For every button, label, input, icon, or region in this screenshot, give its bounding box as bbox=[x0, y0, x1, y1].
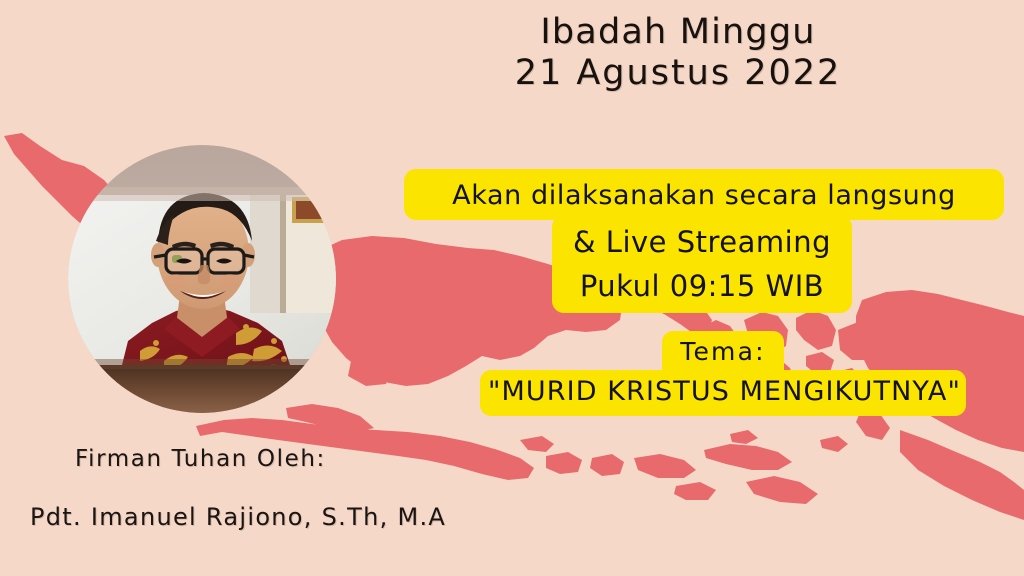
announcement-block: Akan dilaksanakan secara langsung & Live… bbox=[404, 169, 1004, 220]
speaker-name: Pdt. Imanuel Rajiono, S.Th, M.A bbox=[30, 503, 446, 531]
portrait-photo bbox=[68, 145, 336, 413]
speaker-label: Firman Tuhan Oleh: bbox=[75, 446, 326, 472]
announcement-line-1: Akan dilaksanakan secara langsung bbox=[404, 169, 1004, 220]
speaker-portrait-avatar bbox=[68, 145, 336, 413]
theme-label-row: Tema: bbox=[480, 331, 966, 370]
announcement-line-3: Pukul 09:15 WIB bbox=[552, 264, 852, 313]
headline-line-1: Ibadah Minggu bbox=[428, 12, 928, 53]
theme-block: Tema: "MURID KRISTUS MENGIKUTNYA" bbox=[480, 331, 966, 416]
headline-line-2: 21 Agustus 2022 bbox=[428, 53, 928, 94]
announcement-time-block: & Live Streaming Pukul 09:15 WIB bbox=[552, 215, 852, 313]
worship-service-poster: Ibadah Minggu 21 Agustus 2022 Akan dilak… bbox=[0, 0, 1024, 576]
theme-label: Tema: bbox=[662, 331, 784, 370]
announcement-line-2: & Live Streaming bbox=[552, 215, 852, 264]
page-title: Ibadah Minggu 21 Agustus 2022 bbox=[428, 12, 928, 93]
theme-title: "MURID KRISTUS MENGIKUTNYA" bbox=[480, 370, 966, 416]
